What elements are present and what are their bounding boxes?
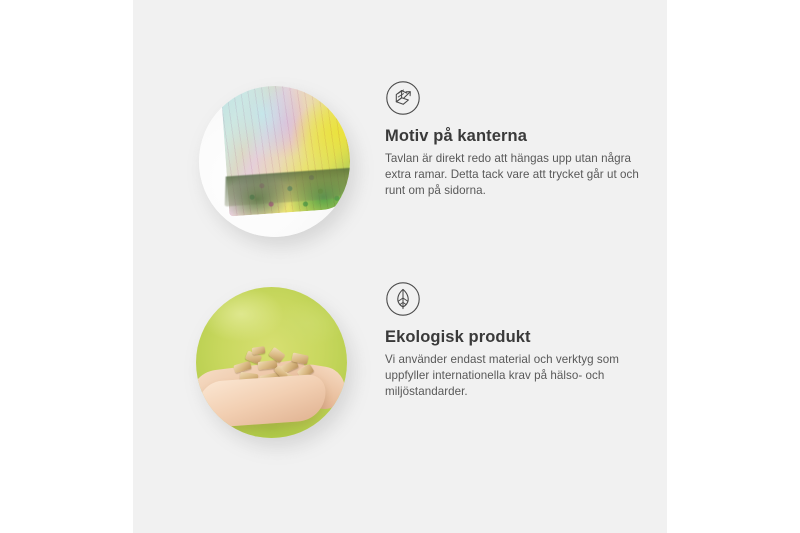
letterbox-bar-left xyxy=(0,0,133,533)
canvas-corner-photo xyxy=(199,86,350,237)
canvas-edge-print-icon xyxy=(385,80,421,116)
feature-body: Vi använder endast material och verktyg … xyxy=(385,352,647,401)
leaf-icon xyxy=(385,281,421,317)
feature-text-column-1: Motiv på kanterna Tavlan är direkt redo … xyxy=(385,80,647,200)
feature-title: Motiv på kanterna xyxy=(385,126,647,146)
feature-block-eco-product: Ekologisk produkt Vi använder endast mat… xyxy=(185,281,655,456)
hands-with-wood-chips-photo xyxy=(196,287,347,438)
feature-title: Ekologisk produkt xyxy=(385,327,647,347)
feature-block-canvas-edges: Motiv på kanterna Tavlan är direkt redo … xyxy=(185,80,645,255)
infographic-stage: Motiv på kanterna Tavlan är direkt redo … xyxy=(0,0,800,533)
letterbox-bar-right xyxy=(667,0,800,533)
feature-text-column-2: Ekologisk produkt Vi använder endast mat… xyxy=(385,281,647,401)
feature-body: Tavlan är direkt redo att hängas upp uta… xyxy=(385,151,647,200)
